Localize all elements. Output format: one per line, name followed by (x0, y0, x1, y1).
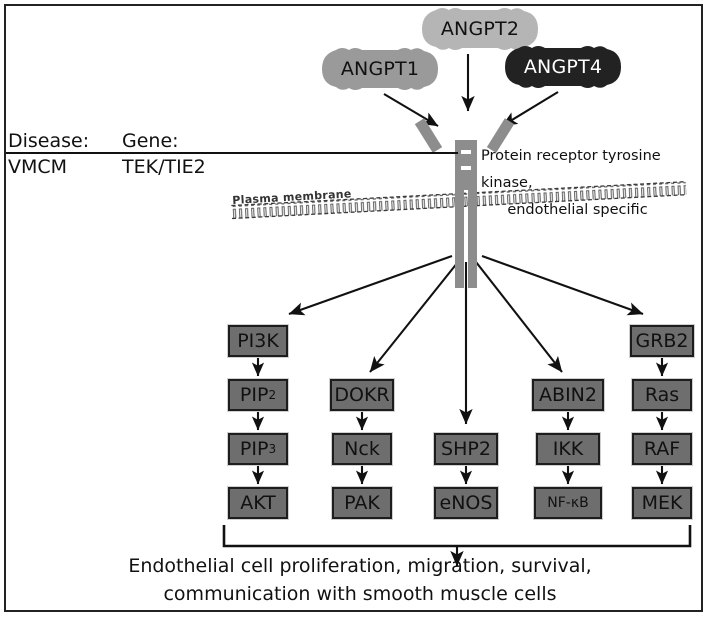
node-label: MEK (642, 492, 683, 514)
node-pip3[interactable]: PIP3 (228, 433, 288, 465)
node-ikk[interactable]: IKK (536, 433, 600, 465)
node-label: PI3K (237, 330, 279, 352)
node-dokr[interactable]: DOKR (330, 379, 394, 411)
node-label: PIP (240, 438, 269, 460)
receptor-label: Protein receptor tyrosine kinase, endoth… (481, 143, 696, 224)
ligand-angpt4[interactable]: ANGPT4 (505, 44, 621, 90)
node-pi3k[interactable]: PI3K (228, 325, 288, 357)
node-nfkb[interactable]: NF-κB (534, 487, 602, 519)
disease-header: Disease: (8, 130, 89, 152)
receptor-label-line1: Protein receptor tyrosine kinase, (481, 143, 696, 197)
node-label: DOKR (334, 384, 389, 406)
receptor-label-line2: endothelial specific (481, 197, 696, 224)
node-label: IKK (553, 438, 584, 460)
node-enos[interactable]: eNOS (434, 487, 498, 519)
node-label: GRB2 (635, 330, 688, 352)
node-label: AKT (240, 492, 276, 514)
node-ras[interactable]: Ras (632, 379, 692, 411)
node-grb2[interactable]: GRB2 (630, 325, 694, 357)
node-shp2[interactable]: SHP2 (434, 433, 498, 465)
node-pip2[interactable]: PIP2 (228, 379, 288, 411)
outcome-text: Endothelial cell proliferation, migratio… (120, 552, 600, 608)
ligand-label: ANGPT4 (524, 56, 602, 78)
node-label: PIP (240, 384, 269, 406)
gene-header: Gene: (122, 130, 179, 152)
node-raf[interactable]: RAF (632, 433, 692, 465)
node-label: ABIN2 (539, 384, 597, 406)
node-label: PAK (344, 492, 380, 514)
ligand-angpt1[interactable]: ANGPT1 (322, 46, 438, 92)
outcome-line2: communication with smooth muscle cells (120, 580, 600, 608)
node-label: NF-κB (547, 495, 588, 511)
node-nck[interactable]: Nck (332, 433, 392, 465)
receptor-domain-dash (461, 166, 471, 170)
receptor-domain-dash (461, 150, 471, 154)
node-akt[interactable]: AKT (228, 487, 288, 519)
diagram-vector-layer (0, 0, 709, 618)
receptor-leg-right (468, 168, 477, 288)
disease-value: VMCM (8, 156, 67, 178)
node-label: RAF (644, 438, 680, 460)
node-sub: 2 (268, 388, 276, 402)
node-label: SHP2 (441, 438, 491, 460)
pathway-diagram: ANGPT2 ANGPT1 ANGPT4 Protein receptor ty… (0, 0, 709, 618)
node-label: Nck (344, 438, 380, 460)
ligand-label: ANGPT2 (441, 18, 519, 40)
receptor-leg-left (455, 168, 464, 288)
node-mek[interactable]: MEK (632, 487, 692, 519)
node-label: Ras (645, 384, 679, 406)
node-abin2[interactable]: ABIN2 (532, 379, 604, 411)
outcome-line1: Endothelial cell proliferation, migratio… (120, 552, 600, 580)
node-label: eNOS (440, 492, 493, 514)
table-divider (6, 152, 458, 154)
node-sub: 3 (268, 442, 276, 456)
summary-bracket (224, 525, 690, 546)
gene-value: TEK/TIE2 (122, 156, 206, 178)
node-pak[interactable]: PAK (332, 487, 392, 519)
ligand-label: ANGPT1 (341, 58, 419, 80)
